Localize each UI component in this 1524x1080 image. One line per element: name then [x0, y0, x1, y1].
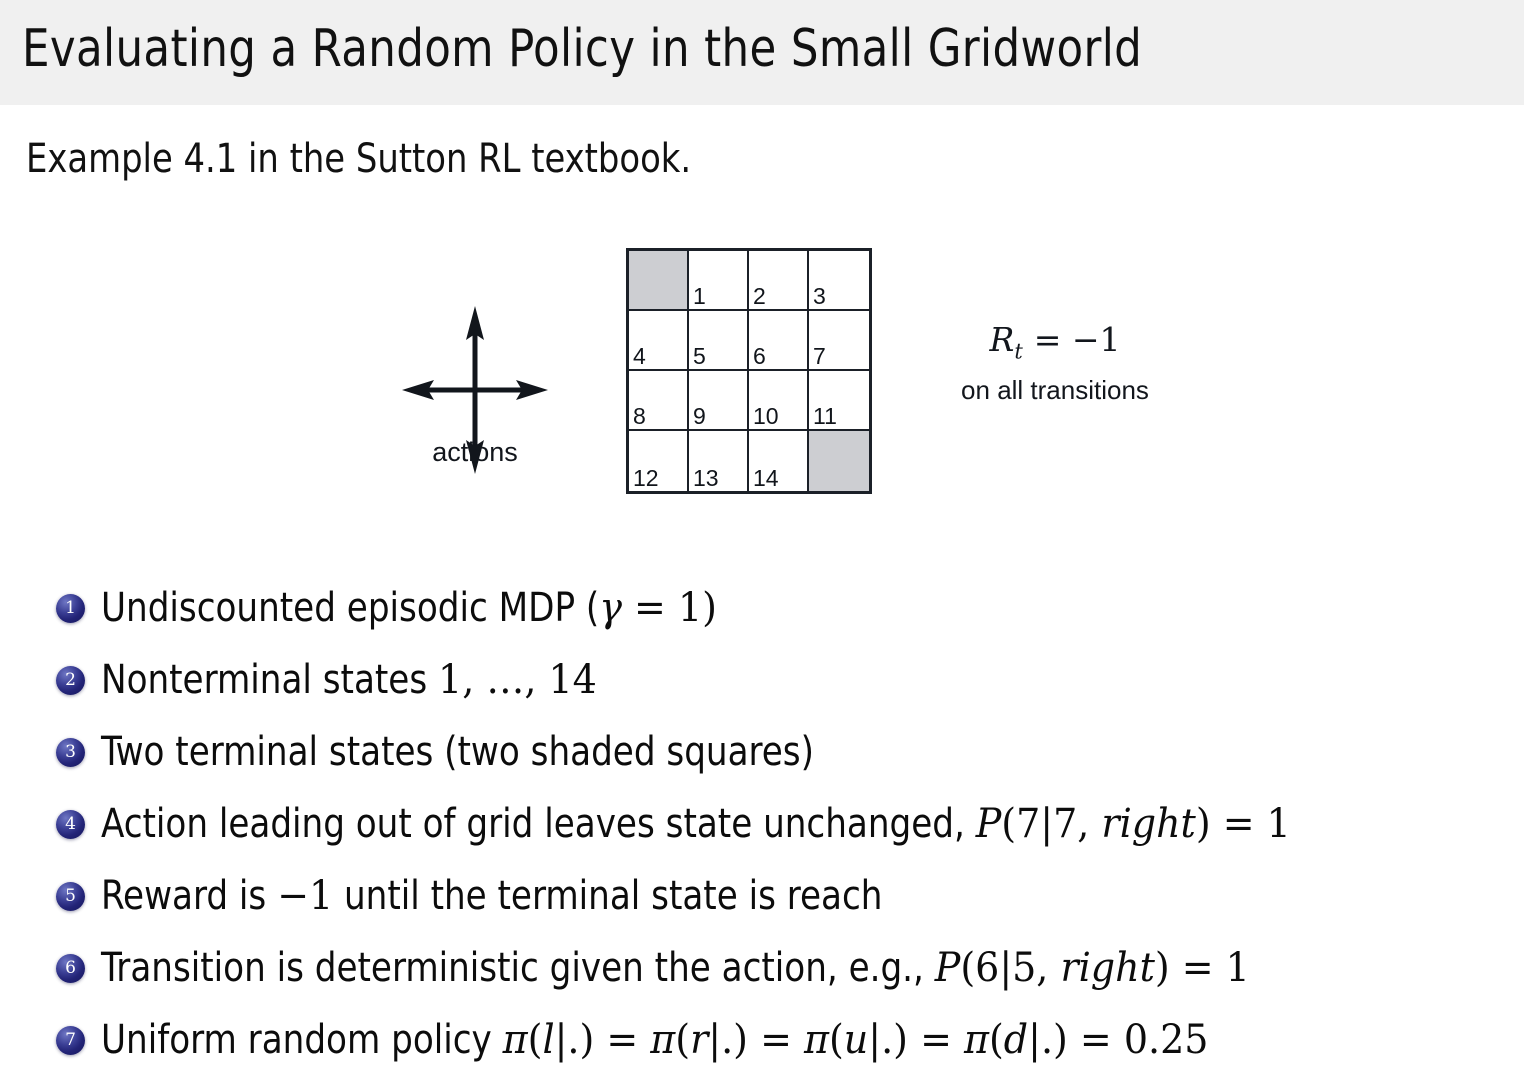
bullet-number-label: 3 [65, 744, 76, 761]
grid-cell-label: 13 [693, 467, 719, 490]
list-item: 2 Nonterminal states 1, …, 14 [0, 644, 1524, 716]
grid-cell-label: 8 [633, 405, 646, 428]
actions-label: actions [400, 437, 550, 468]
bullet-number-label: 1 [65, 600, 76, 617]
bullet-number-label: 6 [65, 960, 76, 977]
list-item: 6 Transition is deterministic given the … [0, 932, 1524, 1004]
grid-cell-9: 9 [689, 371, 749, 431]
grid-cell-5: 5 [689, 311, 749, 371]
bullet-number-label: 7 [65, 1032, 76, 1049]
bullet-number-icon: 5 [56, 882, 85, 911]
slide-title-bar: Evaluating a Random Policy in the Small … [0, 0, 1524, 105]
grid-cell-label: 2 [753, 285, 766, 308]
reward-formula-symbol: R [989, 320, 1014, 359]
reward-formula-subscript: t [1014, 340, 1023, 364]
bullet-number-label: 5 [65, 888, 76, 905]
grid-cell-terminal-bottom-right [809, 431, 869, 491]
bullet-text-4: Action leading out of grid leaves state … [101, 800, 1291, 848]
grid-cell-8: 8 [629, 371, 689, 431]
grid-cell-label: 9 [693, 405, 706, 428]
slide-subtitle: Example 4.1 in the Sutton RL textbook. [26, 133, 691, 185]
bullet-number-icon: 4 [56, 810, 85, 839]
bullet-number-label: 4 [65, 816, 76, 833]
grid-cell-label: 10 [753, 405, 779, 428]
grid-cell-label: 14 [753, 467, 779, 490]
grid-cell-label: 12 [633, 467, 659, 490]
grid-cell-10: 10 [749, 371, 809, 431]
list-item: 4 Action leading out of grid leaves stat… [0, 788, 1524, 860]
grid-cell-11: 11 [809, 371, 869, 431]
bullet-number-icon: 7 [56, 1026, 85, 1055]
grid-cell-7: 7 [809, 311, 869, 371]
grid-cell-label: 7 [813, 345, 826, 368]
grid-cell-2: 2 [749, 251, 809, 311]
bullet-text-2: Nonterminal states 1, …, 14 [101, 656, 597, 704]
bullet-text-5: Reward is −1 until the terminal state is… [101, 872, 882, 920]
bullet-number-icon: 2 [56, 666, 85, 695]
grid-cell-terminal-top-left [629, 251, 689, 311]
grid-cell-label: 11 [813, 405, 837, 428]
grid-cell-6: 6 [749, 311, 809, 371]
bullet-number-icon: 6 [56, 954, 85, 983]
grid-cell-14: 14 [749, 431, 809, 491]
bullet-list: 1 Undiscounted episodic MDP (γ = 1) 2 No… [0, 572, 1524, 1076]
grid-cell-label: 4 [633, 345, 646, 368]
page-title: Evaluating a Random Policy in the Small … [22, 16, 1142, 82]
grid-cell-3: 3 [809, 251, 869, 311]
list-item: 7 Uniform random policy π(l|.) = π(r|.) … [0, 1004, 1524, 1076]
grid-cell-4: 4 [629, 311, 689, 371]
grid-cell-label: 3 [813, 285, 826, 308]
bullet-text-3: Two terminal states (two shaded squares) [101, 728, 814, 776]
bullet-text-7: Uniform random policy π(l|.) = π(r|.) = … [101, 1016, 1208, 1064]
list-item: 1 Undiscounted episodic MDP (γ = 1) [0, 572, 1524, 644]
gridworld-grid: 1 2 3 4 5 6 7 8 9 10 11 12 13 14 [626, 248, 872, 494]
grid-cell-1: 1 [689, 251, 749, 311]
reward-formula-value: = −1 [1023, 320, 1120, 359]
reward-annotation: Rt = −1 on all transitions [930, 320, 1180, 406]
gridworld-figure: actions 1 2 3 4 5 6 7 8 9 10 11 12 13 14… [0, 230, 1524, 520]
grid-cell-12: 12 [629, 431, 689, 491]
bullet-number-icon: 1 [56, 594, 85, 623]
reward-caption: on all transitions [930, 374, 1180, 406]
grid-cell-13: 13 [689, 431, 749, 491]
bullet-text-1: Undiscounted episodic MDP (γ = 1) [101, 584, 717, 632]
bullet-text-6: Transition is deterministic given the ac… [101, 944, 1250, 992]
grid-cell-label: 1 [693, 285, 706, 308]
grid-cell-label: 5 [693, 345, 706, 368]
bullet-number-label: 2 [65, 672, 76, 689]
list-item: 3 Two terminal states (two shaded square… [0, 716, 1524, 788]
list-item: 5 Reward is −1 until the terminal state … [0, 860, 1524, 932]
reward-formula: Rt = −1 [930, 320, 1180, 372]
bullet-number-icon: 3 [56, 738, 85, 767]
grid-cell-label: 6 [753, 345, 766, 368]
